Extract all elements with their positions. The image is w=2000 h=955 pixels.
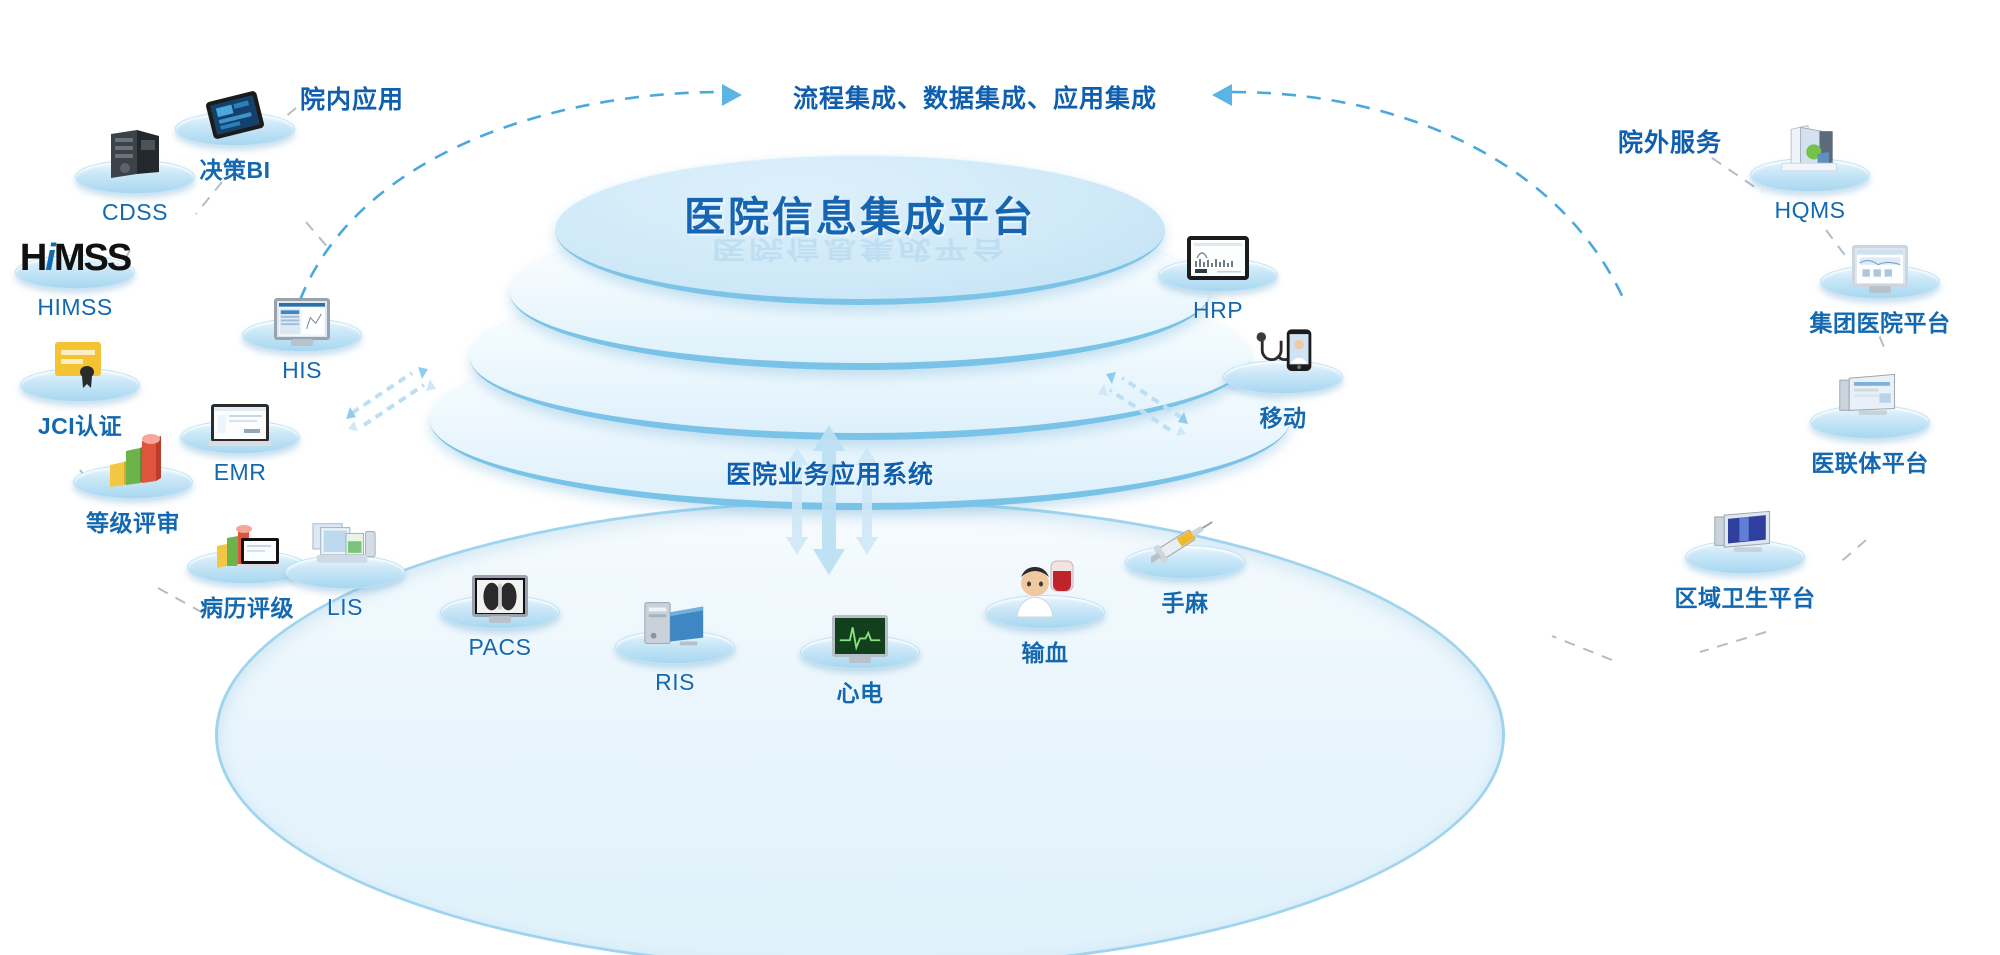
node-label: 区域卫生平台: [1670, 579, 1820, 613]
bar-chart-icon: [99, 429, 167, 487]
tablet-frame: [1187, 236, 1249, 280]
documents-icon: [1776, 122, 1844, 180]
ecg-monitor-icon: [826, 599, 894, 657]
node-pedestal: [985, 595, 1105, 629]
node-lis[interactable]: LIS: [270, 555, 420, 621]
node-pedestal: [1810, 405, 1930, 439]
diagram-canvas: 基础数据中心 临床数据中心 运营数据中心 医院信息集成平台 医院信息集成平台 流…: [0, 0, 2000, 955]
node-hqms[interactable]: HQMS: [1735, 158, 1885, 224]
node-label: PACS: [425, 634, 575, 661]
node-label: HIS: [227, 357, 377, 384]
laptop-frame: [211, 404, 269, 442]
monitor-frame: [472, 575, 528, 617]
ecg-trace: [837, 620, 883, 653]
syringe-icon: [1151, 509, 1219, 567]
node-pedestal: [75, 160, 195, 194]
node-label: HRP: [1143, 297, 1293, 324]
node-mobile[interactable]: 移动: [1208, 360, 1358, 433]
node-label: 心电: [785, 674, 935, 708]
section-title-external: 院外服务: [1618, 123, 1722, 159]
node-ris[interactable]: RIS: [600, 630, 750, 696]
node-anesthesia[interactable]: 手麻: [1110, 545, 1260, 618]
node-label: 等级评审: [58, 504, 208, 538]
xray-image: [477, 580, 523, 613]
certificate-icon: [46, 332, 114, 390]
tablet-report-icon: [1184, 222, 1252, 280]
node-pacs[interactable]: PACS: [425, 595, 575, 661]
node-pedestal: [1820, 265, 1940, 299]
data-exchange-arrows-icon-right: [1098, 360, 1194, 440]
laptop-icon: [206, 384, 274, 442]
node-pedestal: [1158, 258, 1278, 292]
section-title-internal: 院内应用: [300, 80, 404, 116]
node-blood-transfusion[interactable]: 输血: [970, 595, 1120, 668]
node-ecg[interactable]: 心电: [785, 635, 935, 708]
node-regional-health-platform[interactable]: 区域卫生平台: [1670, 540, 1820, 613]
xray-monitor-icon: [466, 559, 534, 617]
arrow-right-icon: [722, 84, 742, 106]
node-medical-alliance-platform[interactable]: 医联体平台: [1795, 405, 1945, 478]
desktop-network-icon: [1836, 369, 1904, 427]
node-pedestal: HiMSS: [15, 255, 135, 289]
node-pedestal: [242, 318, 362, 352]
node-pedestal: [20, 368, 140, 402]
server-rack-icon: [101, 124, 169, 182]
tablet-icon: [201, 76, 269, 134]
node-pedestal: [175, 112, 295, 146]
node-label: 手麻: [1110, 584, 1260, 618]
platform-title-reflection: 医院信息集成平台: [555, 234, 1165, 269]
node-label: 医联体平台: [1795, 444, 1945, 478]
node-pedestal: [180, 420, 300, 454]
monitor-frame: [1852, 245, 1908, 287]
node-pedestal: [800, 635, 920, 669]
node-label: LIS: [270, 594, 420, 621]
node-cdss[interactable]: CDSS: [60, 160, 210, 226]
mobile-stethoscope-icon: [1249, 324, 1317, 382]
node-pedestal: [1125, 545, 1245, 579]
applications-section-title: 医院业务应用系统: [630, 455, 1030, 491]
arrow-left-icon: [1212, 84, 1232, 106]
monitor-frame: [832, 615, 888, 657]
node-label: 移动: [1208, 399, 1358, 433]
node-pedestal: [440, 595, 560, 629]
node-label: 输血: [970, 634, 1120, 668]
node-emr[interactable]: EMR: [165, 420, 315, 486]
node-his[interactable]: HIS: [227, 318, 377, 384]
monitor-screen: [279, 303, 325, 336]
himss-wordmark: HiMSS: [20, 239, 130, 277]
node-label: EMR: [165, 459, 315, 486]
node-label: HIMSS: [0, 294, 150, 321]
integration-banner-label: 流程集成、数据集成、应用集成: [745, 79, 1205, 115]
node-pedestal: [1750, 158, 1870, 192]
monitor-frame: [274, 298, 330, 340]
node-label: HQMS: [1735, 197, 1885, 224]
laptop-screen: [214, 407, 266, 439]
desktop-portal-icon: [1846, 229, 1914, 287]
node-hrp[interactable]: HRP: [1143, 258, 1293, 324]
platform-top-disc: 医院信息集成平台 医院信息集成平台: [555, 155, 1165, 305]
portal-screen: [1857, 250, 1903, 283]
node-pedestal: [285, 555, 405, 589]
tower-pc-icon: [641, 594, 709, 652]
himss-logo-icon: HiMSS: [41, 219, 109, 277]
node-label: RIS: [600, 669, 750, 696]
desktop-monitor-icon: [268, 282, 336, 340]
node-pedestal: [1685, 540, 1805, 574]
node-label: 集团医院平台: [1805, 304, 1955, 338]
blood-transfusion-icon: [1011, 559, 1079, 617]
node-group-hospital-platform[interactable]: 集团医院平台: [1805, 265, 1955, 338]
desktop-blue-icon: [1711, 504, 1779, 562]
node-pedestal: [1223, 360, 1343, 394]
tablet-screen: [1191, 240, 1245, 276]
lab-analyzer-icon: [311, 519, 379, 577]
node-himss[interactable]: HiMSS HIMSS: [0, 255, 150, 321]
bidirectional-vertical-arrows-icon: [775, 425, 895, 575]
node-pedestal: [615, 630, 735, 664]
